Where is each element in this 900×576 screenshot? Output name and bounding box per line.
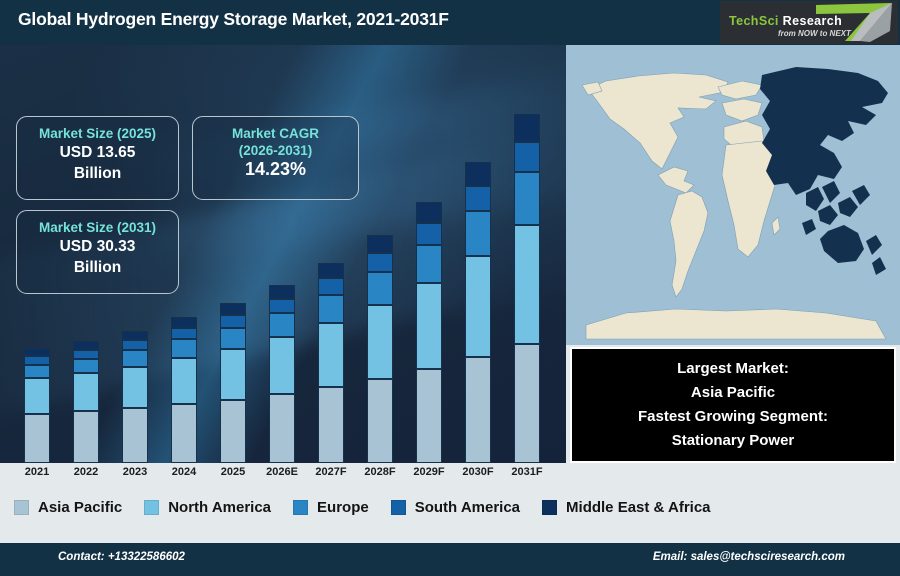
- bar-segment: [24, 378, 50, 413]
- legend-label: Europe: [317, 499, 369, 516]
- bar-segment: [171, 358, 197, 404]
- stat-card-value-unit: Billion: [17, 163, 178, 184]
- bar-segment: [269, 285, 295, 298]
- bar-2024: [171, 317, 197, 463]
- legend-label: North America: [168, 499, 271, 516]
- world-map-svg: [566, 45, 900, 345]
- legend-swatch-icon: [293, 500, 308, 515]
- bar-segment: [416, 369, 442, 463]
- legend-item-asia-pacific[interactable]: Asia Pacific: [14, 499, 122, 516]
- stat-card-value: USD 13.65: [17, 142, 178, 163]
- bar-segment: [220, 400, 246, 463]
- bar-2027F: [318, 263, 344, 463]
- logo-wordmark: TechSci Research: [729, 14, 842, 28]
- bar-2031F: [514, 114, 540, 463]
- chart-legend: Asia PacificNorth AmericaEuropeSouth Ame…: [0, 485, 900, 530]
- legend-item-middle-east-africa[interactable]: Middle East & Africa: [542, 499, 710, 516]
- bar-segment: [24, 414, 50, 463]
- bar-segment: [171, 317, 197, 327]
- bar-2026E: [269, 285, 295, 463]
- bar-segment: [220, 315, 246, 328]
- techsci-research-logo: TechSci Research from NOW to NEXT: [720, 1, 898, 44]
- bar-segment: [416, 245, 442, 283]
- bar-segment: [220, 328, 246, 349]
- bar-segment: [24, 356, 50, 365]
- legend-item-south-america[interactable]: South America: [391, 499, 520, 516]
- logo-brand-primary: TechSci: [729, 14, 779, 28]
- legend-label: Asia Pacific: [38, 499, 122, 516]
- stat-card-value: 14.23%: [193, 159, 358, 180]
- x-axis-label-2026E: 2026E: [259, 466, 305, 478]
- bar-segment: [269, 337, 295, 394]
- bar-segment: [367, 235, 393, 253]
- bar-segment: [465, 357, 491, 463]
- bar-segment: [465, 162, 491, 186]
- bar-segment: [416, 223, 442, 245]
- bar-segment: [269, 299, 295, 313]
- stat-card-market-size-2031: Market Size (2031) USD 30.33 Billion: [16, 210, 179, 294]
- x-axis-label-2027F: 2027F: [308, 466, 354, 478]
- page-title: Global Hydrogen Energy Storage Market, 2…: [18, 9, 449, 30]
- bar-segment: [318, 295, 344, 323]
- bar-segment: [73, 373, 99, 411]
- stat-card-market-cagr: Market CAGR (2026-2031) 14.23%: [192, 116, 359, 200]
- logo-brand-secondary: Research: [779, 14, 842, 28]
- bar-segment: [367, 272, 393, 305]
- bar-segment: [465, 186, 491, 212]
- bar-segment: [465, 256, 491, 357]
- bar-segment: [514, 142, 540, 172]
- bar-segment: [514, 225, 540, 343]
- x-axis-label-2023: 2023: [112, 466, 158, 478]
- chart-x-axis: 202120222023202420252026E2027F2028F2029F…: [0, 463, 566, 485]
- stat-card-label: Market Size (2031): [17, 219, 178, 236]
- key-insights-box: Largest Market: Asia Pacific Fastest Gro…: [570, 347, 896, 463]
- bar-segment: [73, 341, 99, 350]
- legend-item-europe[interactable]: Europe: [293, 499, 369, 516]
- infographic-root: Global Hydrogen Energy Storage Market, 2…: [0, 0, 900, 576]
- header-bar: Global Hydrogen Energy Storage Market, 2…: [0, 0, 900, 45]
- bar-segment: [514, 344, 540, 463]
- bar-segment: [416, 283, 442, 369]
- legend-swatch-icon: [14, 500, 29, 515]
- largest-market-label: Largest Market:: [572, 357, 894, 381]
- bar-segment: [73, 359, 99, 374]
- bar-segment: [24, 348, 50, 356]
- bar-segment: [220, 349, 246, 400]
- stat-card-label: Market Size (2025): [17, 125, 178, 142]
- legend-label: South America: [415, 499, 520, 516]
- bar-segment: [367, 253, 393, 272]
- legend-swatch-icon: [144, 500, 159, 515]
- legend-item-north-america[interactable]: North America: [144, 499, 271, 516]
- bar-2025: [220, 303, 246, 463]
- x-axis-label-2030F: 2030F: [455, 466, 501, 478]
- bar-segment: [122, 340, 148, 350]
- bar-segment: [269, 394, 295, 463]
- x-axis-label-2028F: 2028F: [357, 466, 403, 478]
- world-map: [566, 45, 900, 345]
- fastest-segment-value: Stationary Power: [572, 429, 894, 453]
- bar-2030F: [465, 162, 491, 463]
- footer-email: Email: sales@techsciresearch.com: [653, 551, 845, 563]
- bar-segment: [514, 172, 540, 225]
- bar-segment: [122, 367, 148, 408]
- x-axis-label-2029F: 2029F: [406, 466, 452, 478]
- stat-card-label-period: (2026-2031): [193, 142, 358, 159]
- bar-segment: [465, 211, 491, 256]
- legend-swatch-icon: [542, 500, 557, 515]
- bar-segment: [318, 323, 344, 388]
- stat-card-market-size-2025: Market Size (2025) USD 13.65 Billion: [16, 116, 179, 200]
- bar-segment: [367, 305, 393, 379]
- bar-segment: [318, 278, 344, 294]
- bar-segment: [122, 331, 148, 340]
- x-axis-label-2031F: 2031F: [504, 466, 550, 478]
- footer-bar: Contact: +13322586602 Email: sales@techs…: [0, 543, 900, 576]
- legend-swatch-icon: [391, 500, 406, 515]
- stat-card-label: Market CAGR: [193, 125, 358, 142]
- stat-card-value-unit: Billion: [17, 257, 178, 278]
- bar-segment: [416, 202, 442, 222]
- bar-segment: [122, 350, 148, 366]
- stat-card-value: USD 30.33: [17, 236, 178, 257]
- x-axis-label-2021: 2021: [14, 466, 60, 478]
- bar-segment: [171, 404, 197, 463]
- footer-contact: Contact: +13322586602: [58, 551, 185, 563]
- bar-2023: [122, 331, 148, 463]
- x-axis-label-2025: 2025: [210, 466, 256, 478]
- bar-2021: [24, 348, 50, 463]
- chart-panel: Market Size (2025) USD 13.65 Billion Mar…: [0, 45, 566, 463]
- bar-2028F: [367, 235, 393, 463]
- logo-tagline: from NOW to NEXT: [778, 29, 851, 38]
- bar-segment: [73, 350, 99, 359]
- bar-segment: [318, 263, 344, 278]
- bar-segment: [269, 313, 295, 337]
- bar-segment: [73, 411, 99, 463]
- bar-segment: [514, 114, 540, 142]
- bar-segment: [367, 379, 393, 463]
- bar-2022: [73, 341, 99, 463]
- bar-segment: [122, 408, 148, 463]
- largest-market-value: Asia Pacific: [572, 381, 894, 405]
- x-axis-label-2024: 2024: [161, 466, 207, 478]
- bar-2029F: [416, 202, 442, 463]
- bar-segment: [171, 339, 197, 358]
- legend-label: Middle East & Africa: [566, 499, 710, 516]
- x-axis-label-2022: 2022: [63, 466, 109, 478]
- bar-segment: [318, 387, 344, 463]
- bar-segment: [220, 303, 246, 315]
- bar-segment: [171, 328, 197, 339]
- fastest-segment-label: Fastest Growing Segment:: [572, 405, 894, 429]
- bar-segment: [24, 365, 50, 378]
